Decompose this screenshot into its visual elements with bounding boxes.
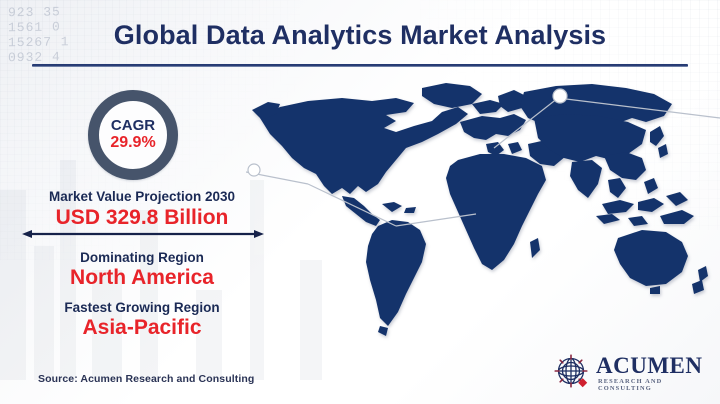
dominating-region-value: North America: [12, 266, 272, 290]
title-divider-rule: [32, 64, 688, 67]
fastest-growing-region-label: Fastest Growing Region: [12, 300, 272, 315]
market-value-value: USD 329.8 Billion: [12, 206, 272, 230]
cagr-value: 29.9%: [110, 134, 155, 152]
world-map: [246, 74, 720, 360]
source-text: Source: Acumen Research and Consulting: [38, 373, 254, 385]
arrow-divider: [22, 228, 264, 240]
acumen-logo: ACUMEN RESEARCH AND CONSULTING: [552, 350, 712, 394]
market-value-label: Market Value Projection 2030: [12, 189, 272, 204]
page-title: Global Data Analytics Market Analysis: [0, 20, 720, 51]
infographic-canvas: 923 35 1561 0 15267 1 0932 4 Global Data…: [0, 0, 720, 404]
cagr-label: CAGR: [111, 118, 155, 134]
logo-wordmark: ACUMEN: [596, 353, 703, 379]
globe-icon: [552, 352, 592, 392]
fastest-growing-region-value: Asia-Pacific: [12, 316, 272, 340]
dominating-region-label: Dominating Region: [12, 250, 272, 265]
logo-tagline: RESEARCH AND CONSULTING: [598, 378, 712, 392]
cagr-ring: CAGR 29.9%: [88, 90, 178, 180]
